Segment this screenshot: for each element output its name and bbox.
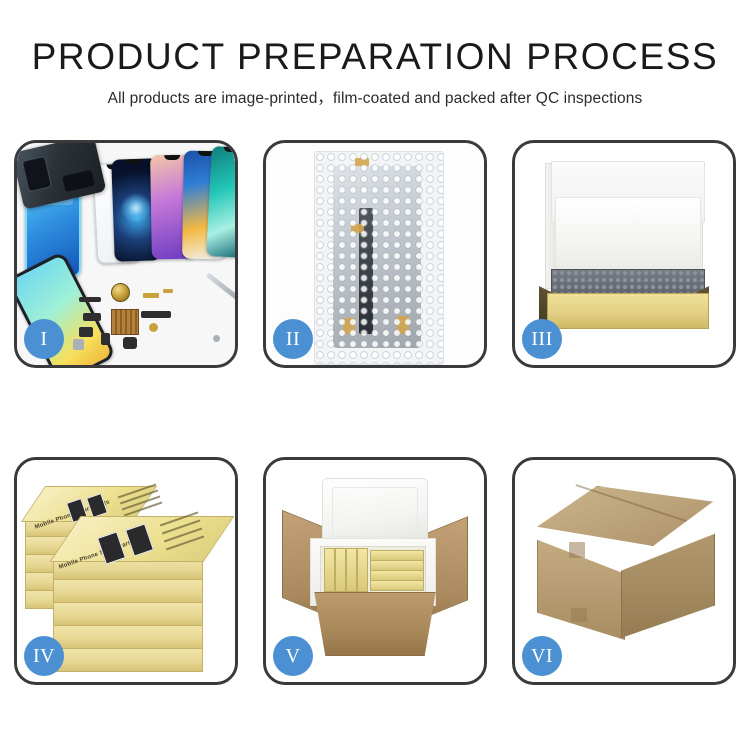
bubble-texture-overlay (315, 152, 443, 364)
process-step-panel-4[interactable]: Mobile Phone Spare Parts Mobile Ph (14, 457, 238, 685)
carton-tape-upper (569, 542, 585, 558)
bubble-wrap-bag (314, 151, 444, 365)
packed-box-1 (324, 548, 335, 592)
antenna-strip-part (79, 297, 101, 302)
box-front-yellow (547, 293, 709, 329)
process-step-panel-5[interactable]: V (263, 457, 487, 685)
phone-screen-teal (206, 146, 235, 258)
process-step-grid: I II (14, 140, 736, 685)
step-badge-5: V (273, 636, 313, 676)
page-header: PRODUCT PREPARATION PROCESS All products… (0, 38, 750, 108)
packed-box-2 (335, 548, 346, 592)
packed-box-8 (370, 580, 424, 591)
step-badge-6: VI (522, 636, 562, 676)
taptic-engine-part (123, 337, 137, 349)
flex-cable-part (83, 313, 101, 321)
connector-gold-part (143, 293, 159, 298)
foam-cooler-lid (322, 478, 428, 546)
step-badge-2: II (273, 319, 313, 359)
step-badge-1: I (24, 319, 64, 359)
product-preparation-process-page: PRODUCT PREPARATION PROCESS All products… (0, 0, 750, 750)
connector-small-part (163, 289, 173, 293)
screw-part (149, 323, 158, 332)
process-step-panel-3[interactable]: III (512, 140, 736, 368)
camera-module-part (79, 327, 93, 337)
white-foam-sheet (555, 197, 701, 273)
screw-small-part (213, 335, 220, 342)
process-step-panel-6[interactable]: VI (512, 457, 736, 685)
page-subtitle: All products are image-printed，film-coat… (0, 86, 750, 108)
carton-body (306, 592, 444, 656)
retail-box-fr-5 (53, 648, 203, 672)
retail-box-fr-3 (53, 602, 203, 626)
button-part (73, 339, 84, 350)
ribbon-cable-part (141, 311, 171, 318)
step-badge-3: III (522, 319, 562, 359)
process-step-panel-2[interactable]: II (263, 140, 487, 368)
logic-board-chip (111, 309, 139, 335)
carton-tape-lower (571, 608, 587, 622)
packed-box-3 (346, 548, 357, 592)
packed-box-4 (357, 548, 368, 592)
process-step-panel-1[interactable]: I (14, 140, 238, 368)
retail-box-fr-2 (53, 579, 203, 603)
page-title: PRODUCT PREPARATION PROCESS (0, 38, 750, 77)
sim-tray-part (101, 333, 110, 345)
retail-box-fr-4 (53, 625, 203, 649)
step-badge-4: IV (24, 636, 64, 676)
speaker-part (111, 283, 130, 302)
